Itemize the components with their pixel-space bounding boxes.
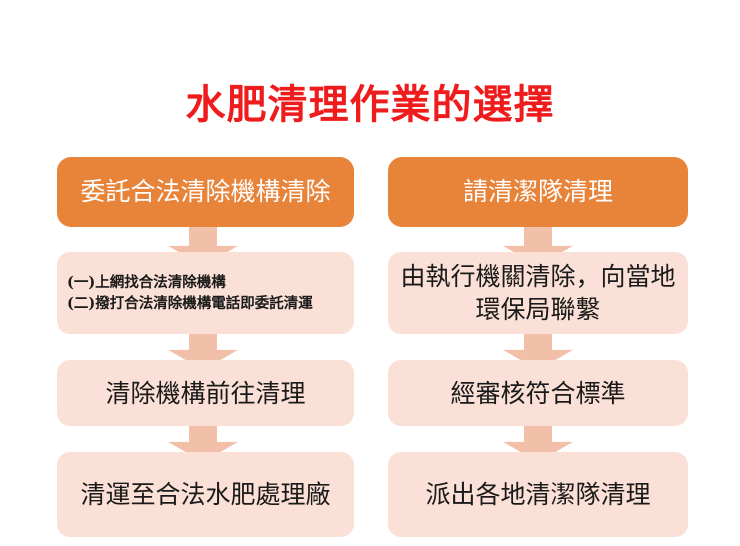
- flow-step-left-2-text: 清除機構前往清理: [57, 377, 354, 410]
- flow-header-right-label: 請清潔隊清理: [388, 177, 688, 207]
- page-title: 水肥清理作業的選擇: [0, 82, 740, 128]
- flow-step-left-3-text: 清運至合法水肥處理廠: [57, 478, 354, 511]
- flow-step-left-1-line-1: (一)上網找合法清除機構: [67, 272, 344, 293]
- flow-step-right-1[interactable]: 由執行機關清除，向當地環保局聯繫: [388, 252, 688, 334]
- flow-step-left-3[interactable]: 清運至合法水肥處理廠: [57, 452, 354, 537]
- flow-header-left[interactable]: 委託合法清除機構清除: [57, 157, 354, 227]
- flow-step-left-1[interactable]: (一)上網找合法清除機構 (二)撥打合法清除機構電話即委託清運: [57, 252, 354, 334]
- flow-step-right-1-text: 由執行機關清除，向當地環保局聯繫: [388, 260, 688, 326]
- flow-header-right[interactable]: 請清潔隊清理: [388, 157, 688, 227]
- flow-step-right-2[interactable]: 經審核符合標準: [388, 360, 688, 426]
- flow-step-right-2-text: 經審核符合標準: [388, 377, 688, 410]
- flow-step-right-3[interactable]: 派出各地清潔隊清理: [388, 452, 688, 537]
- slide-canvas: 水肥清理作業的選擇 委託合法清除機構清除 (一)上網找合法清除機構 (二)撥打合…: [0, 0, 740, 546]
- flow-step-left-1-line-2: (二)撥打合法清除機構電話即委託清運: [67, 293, 344, 314]
- flow-step-right-3-text: 派出各地清潔隊清理: [388, 478, 688, 511]
- flow-header-left-label: 委託合法清除機構清除: [57, 177, 354, 207]
- flow-step-left-2[interactable]: 清除機構前往清理: [57, 360, 354, 426]
- flow-step-left-1-text: (一)上網找合法清除機構 (二)撥打合法清除機構電話即委託清運: [57, 272, 354, 314]
